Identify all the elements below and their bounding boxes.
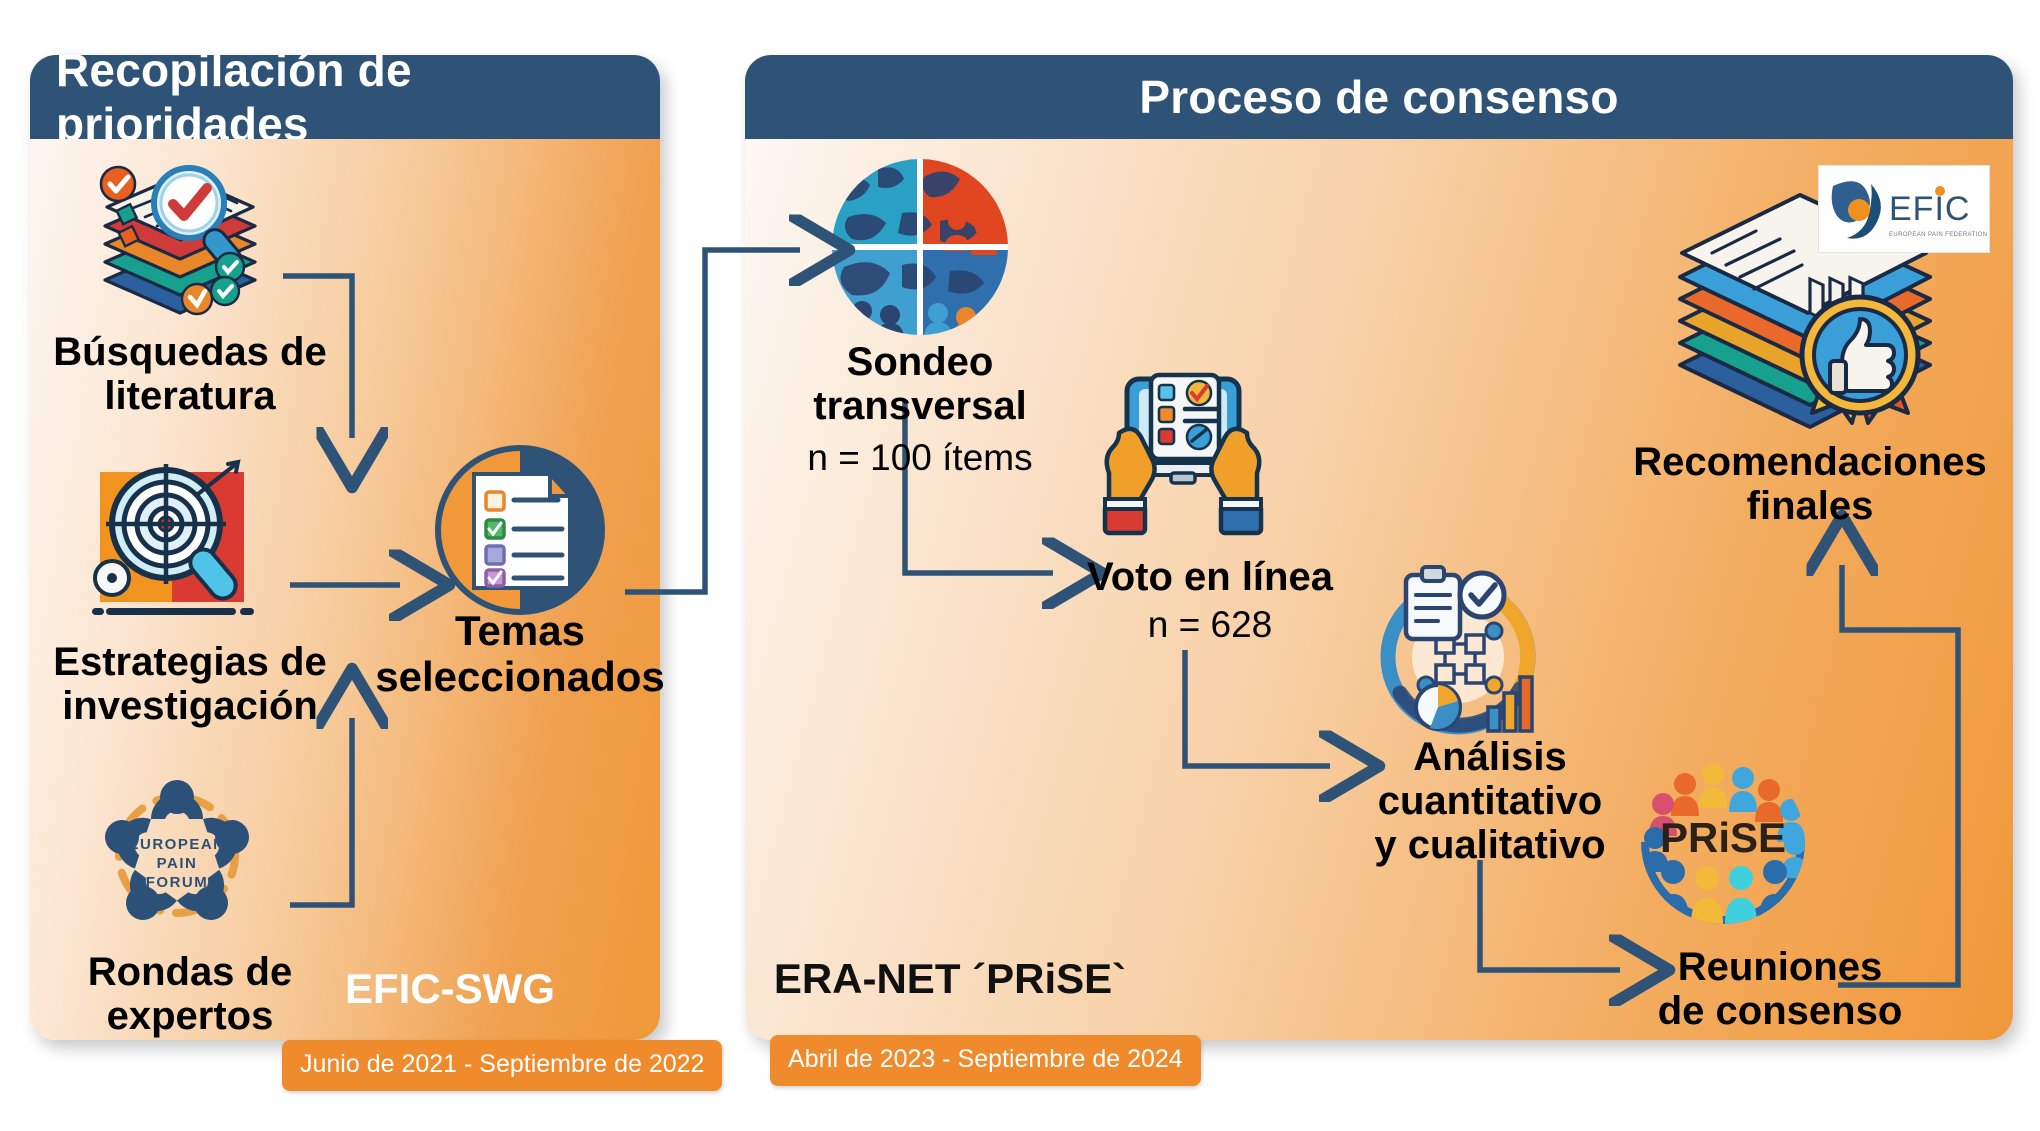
panel-right-header: Proceso de consenso — [745, 55, 2013, 139]
epf-line3: FORUM — [146, 874, 209, 891]
date-chip-right: Abril de 2023 - Septiembre de 2024 — [770, 1035, 1201, 1086]
label-literature: Búsquedas de literatura — [20, 330, 360, 418]
document-stack-magnifier-icon — [85, 155, 275, 320]
efic-logo: EFIC EUROPEAN PAIN FEDERATION — [1818, 165, 1990, 253]
epf-line1: EUROPEAN — [128, 836, 225, 853]
epf-line2: PAIN — [157, 855, 198, 872]
tablet-survey-hands-icon — [1095, 365, 1270, 540]
europe-globe-people-icon — [828, 155, 1013, 340]
european-pain-forum-logo-icon: EUROPEAN PAIN FORUM — [82, 775, 272, 935]
detail-online-vote: n = 628 — [1060, 605, 1360, 646]
date-chip-left: Junio de 2021 - Septiembre de 2022 — [282, 1040, 722, 1091]
panel-right-title: Proceso de consenso — [1139, 70, 1618, 124]
panel-left-title: Recopilación de prioridades — [56, 55, 660, 151]
label-final-recommendations: Recomendaciones finales — [1600, 440, 2020, 528]
prise-people-circle-icon: PRiSE — [1633, 752, 1813, 927]
detail-cross-survey: n = 100 ítems — [760, 438, 1080, 479]
efic-wordmark: EFIC — [1889, 190, 1970, 228]
analytics-chart-icon — [1370, 565, 1545, 740]
label-online-vote: Voto en línea — [1060, 555, 1360, 599]
diagram-canvas: Recopilación de prioridades Proceso de c… — [0, 0, 2040, 1131]
target-magnifier-icon — [78, 460, 268, 625]
panel-left-header: Recopilación de prioridades — [30, 55, 660, 139]
label-cross-survey: Sondeo transversal — [760, 340, 1080, 428]
label-selected-topics: Temas seleccionados — [340, 608, 700, 700]
label-research-strategies: Estrategias de investigación — [20, 640, 360, 728]
efic-tagline: EUROPEAN PAIN FEDERATION — [1889, 232, 1987, 238]
checklist-circle-icon — [430, 440, 610, 620]
label-analysis: Análisis cuantitativo y cualitativo — [1330, 735, 1650, 867]
label-era-net-prise: ERA-NET ´PRiSE` — [770, 955, 1130, 1003]
prise-wordmark: PRiSE — [1660, 814, 1786, 861]
label-efic-swg: EFIC-SWG — [285, 965, 615, 1013]
label-consensus-meetings: Reuniones de consenso — [1620, 945, 1940, 1033]
